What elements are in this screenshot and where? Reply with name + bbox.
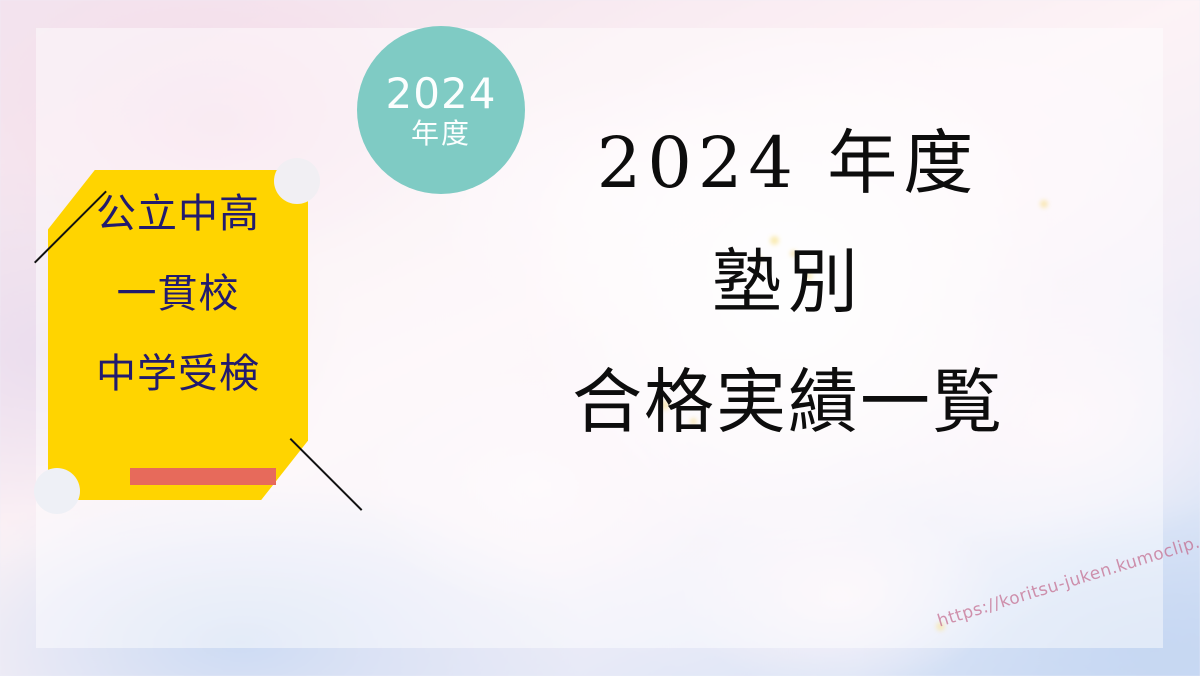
- headline-block: 2024 年度 塾別 合格実績一覧: [488, 128, 1088, 438]
- tag-line-2: 一貫校: [117, 274, 240, 314]
- eyecatch-banner: 2024 年度 公立中高 一貫校 中学受検 2024 年度 塾別 合格実績一覧 …: [0, 0, 1200, 676]
- headline-line-1: 2024 年度: [597, 128, 979, 199]
- tag-line-1: 公立中高: [96, 194, 260, 234]
- badge-year: 2024: [386, 70, 497, 118]
- badge-nendo: 年度: [411, 118, 471, 150]
- headline-line-2: 塾別: [712, 247, 864, 318]
- headline-line-3: 合格実績一覧: [572, 367, 1004, 438]
- category-tag-card: 公立中高 一貫校 中学受検: [48, 170, 308, 500]
- tag-line-3: 中学受検: [96, 354, 260, 394]
- tag-text-stack: 公立中高 一貫校 中学受検: [48, 170, 308, 500]
- tag-accent-underline: [130, 468, 276, 485]
